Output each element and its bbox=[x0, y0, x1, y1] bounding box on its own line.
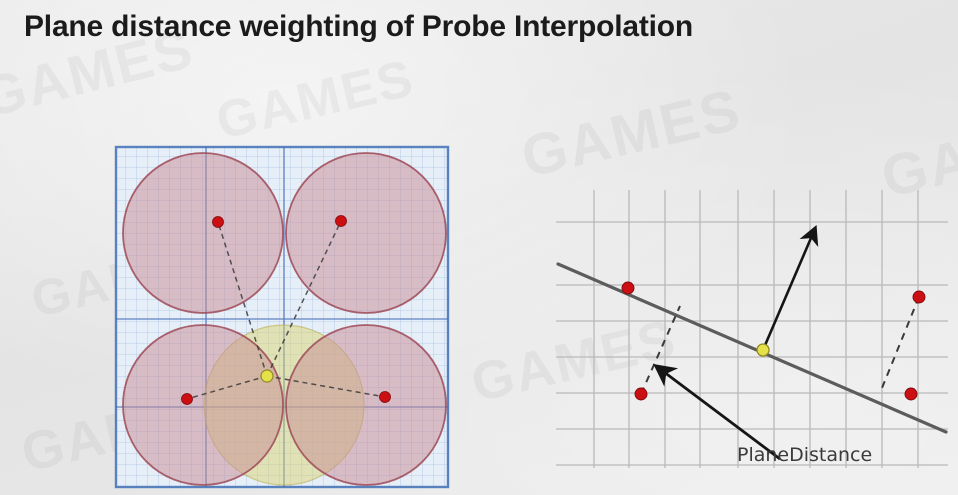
probe-influence-circle-0 bbox=[123, 153, 283, 313]
page-title: Plane distance weighting of Probe Interp… bbox=[24, 10, 693, 44]
watermark-text: GAMES bbox=[515, 76, 747, 191]
watermark-text: GAMES bbox=[211, 48, 420, 152]
plane-distance-svg bbox=[552, 176, 952, 476]
slide-canvas: GAMES GAMES GAMES GAMES GAMES GAMES GAME… bbox=[0, 0, 958, 495]
probe-grid-cell-diagram bbox=[114, 145, 450, 489]
probe-grid-svg bbox=[114, 145, 450, 489]
plane-normal-arrow bbox=[763, 231, 814, 350]
probe-dot-off-plane-1[interactable] bbox=[913, 291, 925, 303]
probe-influence-circle-3 bbox=[286, 325, 446, 485]
sample-point-dot[interactable] bbox=[757, 344, 769, 356]
sample-point-dot[interactable] bbox=[261, 370, 273, 382]
probe-dot-on-plane-0[interactable] bbox=[622, 282, 634, 294]
probe-dot-off-plane-0[interactable] bbox=[635, 388, 647, 400]
probe-dot-0[interactable] bbox=[213, 217, 224, 228]
probe-dot-2[interactable] bbox=[182, 394, 193, 405]
plane-distance-dashed-line-1 bbox=[882, 297, 919, 388]
probe-dot-1[interactable] bbox=[336, 216, 347, 227]
probe-dot-off-plane-2[interactable] bbox=[905, 388, 917, 400]
plane-line bbox=[558, 264, 946, 432]
probe-influence-circle-1 bbox=[286, 153, 446, 313]
plane-distance-diagram bbox=[552, 176, 952, 476]
probe-dot-3[interactable] bbox=[380, 392, 391, 403]
plane-distance-label: PlaneDistance bbox=[737, 444, 872, 466]
